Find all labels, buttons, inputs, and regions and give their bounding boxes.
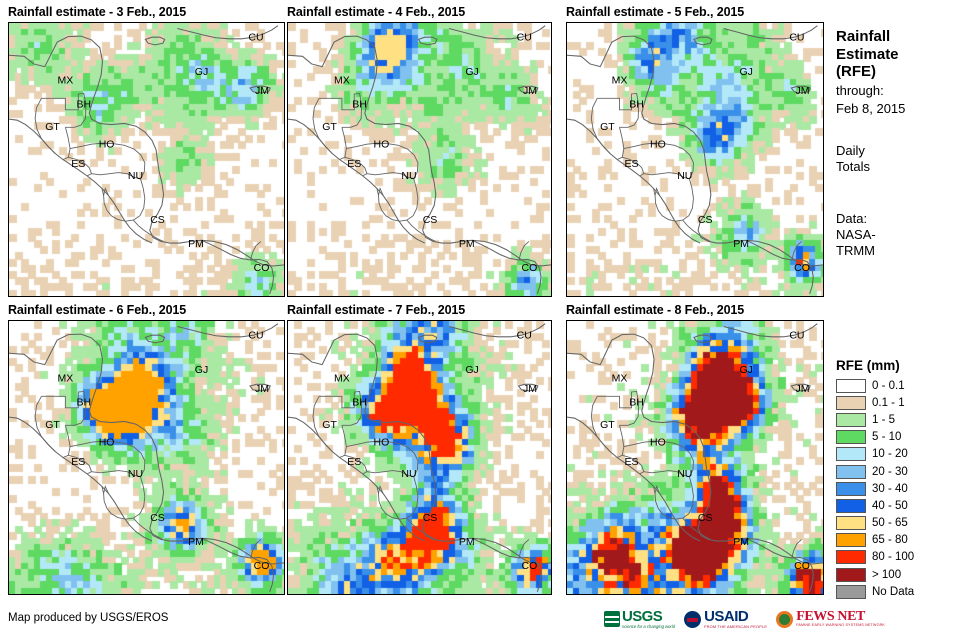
legend-row: 80 - 100	[836, 549, 970, 566]
legend-label: 30 - 40	[872, 483, 908, 495]
legend-swatch	[836, 499, 866, 513]
legend-row: 1 - 5	[836, 411, 970, 428]
legend-swatch	[836, 482, 866, 496]
legend-swatch	[836, 447, 866, 461]
legend-label: 0 - 0.1	[872, 380, 905, 392]
map-panel-2: Rainfall estimate - 4 Feb., 2015 MXBHGTE…	[287, 5, 552, 297]
legend-label: 80 - 100	[872, 551, 914, 563]
through-date: Feb 8, 2015	[836, 101, 970, 117]
legend-swatch	[836, 568, 866, 582]
legend-label: No Data	[872, 586, 914, 598]
panel-title: Rainfall estimate - 8 Feb., 2015	[566, 303, 824, 317]
fewsnet-tagline: FAMINE EARLY WARNING SYSTEMS NETWORK	[796, 623, 885, 628]
legend-row: No Data	[836, 583, 970, 600]
title-line-1: Rainfall	[836, 28, 970, 46]
legend-swatch	[836, 585, 866, 599]
legend-row: 10 - 20	[836, 446, 970, 463]
spacer	[836, 117, 970, 143]
map-panel-6: Rainfall estimate - 8 Feb., 2015 MXBHGTE…	[566, 303, 824, 595]
fewsnet-globe-icon	[776, 611, 793, 628]
legend-label: 1 - 5	[872, 414, 895, 426]
legend-label: > 100	[872, 569, 901, 581]
usgs-logo[interactable]: USGS science for a changing world	[604, 607, 675, 631]
panel-title: Rainfall estimate - 7 Feb., 2015	[287, 303, 552, 317]
header-block: Rainfall Estimate (RFE) through: Feb 8, …	[836, 28, 970, 259]
legend-swatch	[836, 396, 866, 410]
legend-label: 50 - 65	[872, 517, 908, 529]
rainfall-raster	[567, 321, 823, 594]
legend-row: 5 - 10	[836, 429, 970, 446]
legend-row: 0.1 - 1	[836, 394, 970, 411]
legend-swatch	[836, 550, 866, 564]
legend-label: 10 - 20	[872, 448, 908, 460]
legend-label: 20 - 30	[872, 466, 908, 478]
legend-rows: 0 - 0.10.1 - 11 - 55 - 1010 - 2020 - 303…	[836, 377, 970, 600]
fewsnet-logo[interactable]: FEWS NET FAMINE EARLY WARNING SYSTEMS NE…	[776, 607, 885, 631]
legend-row: 40 - 50	[836, 497, 970, 514]
legend-title: RFE (mm)	[836, 358, 970, 373]
rainfall-raster	[288, 321, 551, 594]
data-source-line-1: NASA-	[836, 227, 970, 243]
legend-row: 65 - 80	[836, 532, 970, 549]
map-frame[interactable]: MXBHGTESHONUCSPMCOCUGJJM	[287, 22, 552, 297]
usaid-logo[interactable]: USAID FROM THE AMERICAN PEOPLE	[684, 607, 767, 631]
legend-swatch	[836, 430, 866, 444]
rainfall-raster	[9, 23, 284, 296]
rainfall-raster	[9, 321, 284, 594]
panel-title: Rainfall estimate - 4 Feb., 2015	[287, 5, 552, 19]
map-frame[interactable]: MXBHGTESHONUCSPMCOCUGJJM	[8, 320, 285, 595]
interval-line-1: Daily	[836, 143, 970, 159]
legend-label: 0.1 - 1	[872, 397, 905, 409]
rainfall-raster	[288, 23, 551, 296]
map-frame[interactable]: MXBHGTESHONUCSPMCOCUGJJM	[566, 22, 824, 297]
legend-row: 30 - 40	[836, 480, 970, 497]
usgs-wordmark: USGS	[622, 610, 675, 624]
map-frame[interactable]: MXBHGTESHONUCSPMCOCUGJJM	[8, 22, 285, 297]
legend-row: 50 - 65	[836, 515, 970, 532]
map-panel-4: Rainfall estimate - 6 Feb., 2015 MXBHGTE…	[8, 303, 285, 595]
panel-title: Rainfall estimate - 5 Feb., 2015	[566, 5, 824, 19]
legend-swatch	[836, 516, 866, 530]
map-panel-5: Rainfall estimate - 7 Feb., 2015 MXBHGTE…	[287, 303, 552, 595]
interval-line-2: Totals	[836, 159, 970, 175]
usgs-mark-icon	[604, 611, 620, 627]
title-line-3: (RFE)	[836, 63, 970, 81]
legend-swatch	[836, 413, 866, 427]
usaid-tagline: FROM THE AMERICAN PEOPLE	[704, 624, 767, 629]
rainfall-raster	[567, 23, 823, 296]
logo-strip: USGS science for a changing world USAID …	[604, 606, 885, 632]
legend: RFE (mm) 0 - 0.10.1 - 11 - 55 - 1010 - 2…	[836, 358, 970, 600]
usgs-tagline: science for a changing world	[622, 624, 675, 629]
map-panel-3: Rainfall estimate - 5 Feb., 2015 MXBHGTE…	[566, 5, 824, 297]
legend-row: > 100	[836, 566, 970, 583]
map-frame[interactable]: MXBHGTESHONUCSPMCOCUGJJM	[566, 320, 824, 595]
legend-swatch	[836, 379, 866, 393]
panel-title: Rainfall estimate - 6 Feb., 2015	[8, 303, 285, 317]
legend-label: 5 - 10	[872, 431, 901, 443]
panel-title: Rainfall estimate - 3 Feb., 2015	[8, 5, 285, 19]
legend-label: 40 - 50	[872, 500, 908, 512]
legend-row: 0 - 0.1	[836, 377, 970, 394]
map-credit: Map produced by USGS/EROS	[8, 612, 168, 624]
fewsnet-wordmark: FEWS NET	[796, 610, 885, 623]
spacer	[836, 175, 970, 211]
data-source-line-2: TRMM	[836, 243, 970, 259]
through-label: through:	[836, 83, 970, 99]
usaid-wordmark: USAID	[704, 610, 767, 624]
legend-swatch	[836, 465, 866, 479]
data-label: Data:	[836, 211, 970, 227]
map-frame[interactable]: MXBHGTESHONUCSPMCOCUGJJM	[287, 320, 552, 595]
title-line-2: Estimate	[836, 46, 970, 64]
map-panel-1: Rainfall estimate - 3 Feb., 2015 MXBHGTE…	[8, 5, 285, 297]
usaid-seal-icon	[684, 611, 701, 628]
legend-swatch	[836, 533, 866, 547]
legend-row: 20 - 30	[836, 463, 970, 480]
legend-label: 65 - 80	[872, 534, 908, 546]
